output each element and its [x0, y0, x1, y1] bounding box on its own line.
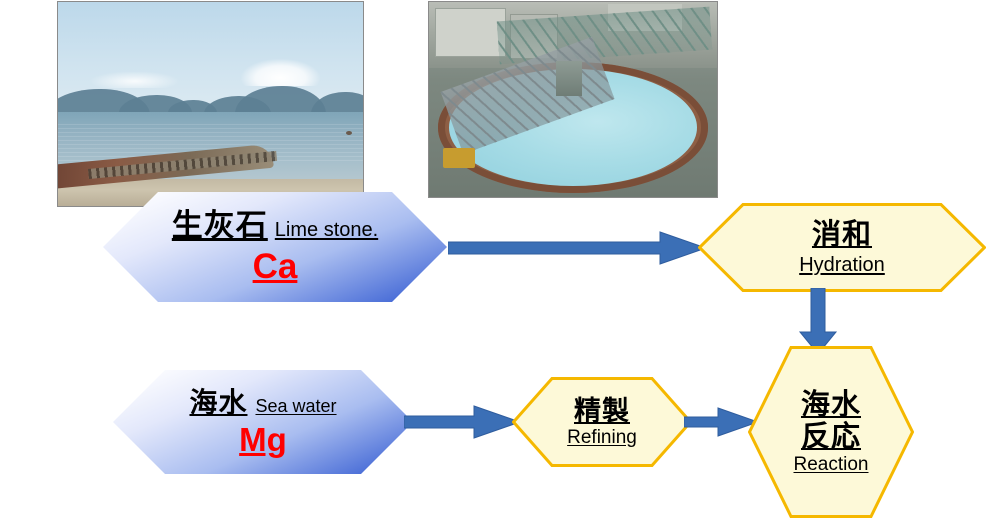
- node-limestone-jp: 生灰石: [172, 210, 268, 241]
- node-reaction-jp-line2: 反応: [794, 423, 869, 452]
- arrow-limestone-to-hydration: [448, 228, 706, 268]
- node-seawater-labels: 海水 Sea water Mg: [189, 389, 336, 456]
- node-hydration-labels: 消和 Hydration: [799, 221, 885, 275]
- node-seawater[interactable]: 海水 Sea water Mg: [113, 370, 413, 474]
- bridge-drive-unit: [443, 148, 475, 168]
- node-reaction-en: Reaction: [794, 454, 869, 475]
- node-hydration-en: Hydration: [799, 255, 885, 275]
- node-hydration[interactable]: 消和 Hydration: [698, 203, 986, 292]
- cloud-shape: [241, 59, 320, 86]
- node-seawater-jp: 海水: [189, 389, 247, 417]
- seascape-photo: [57, 1, 364, 207]
- node-refining-jp: 精製: [567, 398, 637, 425]
- plant-building: [435, 8, 506, 57]
- node-reaction-jp-line1: 海水: [794, 391, 869, 420]
- node-refining-labels: 精製 Refining: [567, 398, 637, 447]
- buoy: [346, 131, 352, 135]
- node-limestone-en: Lime stone.: [275, 220, 378, 240]
- node-limestone-labels: 生灰石 Lime stone. Ca: [172, 210, 378, 284]
- thickener-photo: [428, 1, 718, 198]
- cloud-shape: [89, 71, 181, 87]
- node-reaction[interactable]: 海水 反応 Reaction: [748, 346, 914, 518]
- node-reaction-labels: 海水 反応 Reaction: [794, 391, 869, 474]
- tank-center-hub: [556, 61, 582, 96]
- node-seawater-en: Sea water: [255, 397, 336, 415]
- arrow-hydration-to-reaction: [798, 288, 838, 354]
- diagram-canvas: 生灰石 Lime stone. Ca 消和 Hydration: [0, 0, 1000, 503]
- node-hydration-jp: 消和: [799, 221, 885, 250]
- node-refining-en: Refining: [567, 428, 637, 447]
- node-refining[interactable]: 精製 Refining: [512, 377, 692, 467]
- arrow-refining-to-reaction: [684, 406, 758, 438]
- node-seawater-element: Mg: [189, 423, 336, 456]
- arrow-seawater-to-refining: [404, 403, 520, 441]
- node-limestone-element: Ca: [172, 249, 378, 284]
- node-limestone[interactable]: 生灰石 Lime stone. Ca: [103, 192, 447, 302]
